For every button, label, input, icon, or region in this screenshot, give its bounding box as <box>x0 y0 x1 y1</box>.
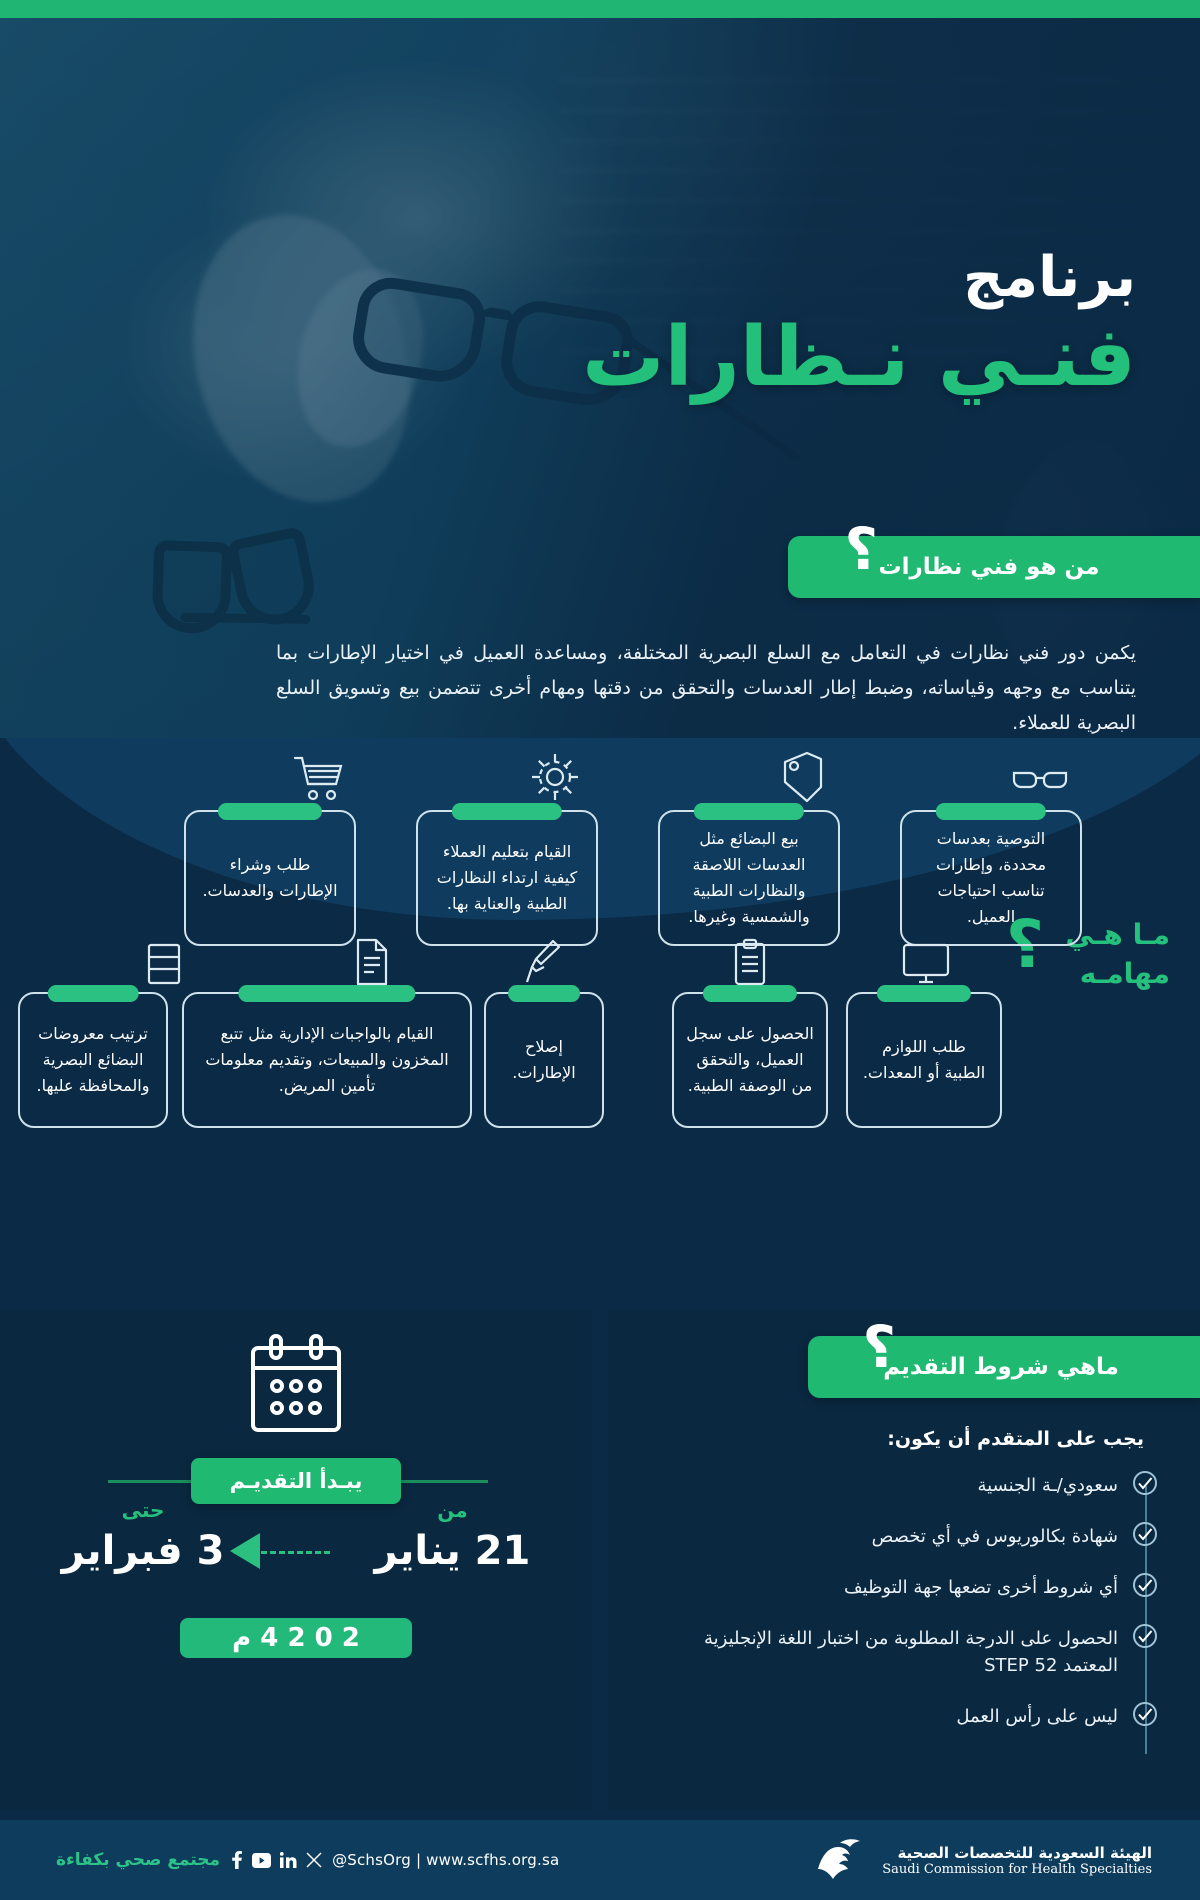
screwdriver-icon <box>525 938 561 986</box>
card-cap <box>877 985 971 1002</box>
conditions-intro: يجب على المتقدم أن يكون: <box>887 1428 1144 1450</box>
x-twitter-icon[interactable] <box>306 1852 322 1868</box>
list-item: الحصول على الدرجة المطلوبة من اختبار الل… <box>648 1623 1158 1679</box>
task-card-text: الحصول على سجل العميل، والتحقق من الوصفة… <box>674 1011 826 1109</box>
task-card: القيام بتعليم العملاء كيفية ارتداء النظا… <box>416 810 598 946</box>
program-name: فنـي نـظارات <box>582 312 1136 404</box>
conditions-badge[interactable]: ؟ ماهي شروط التقديم <box>808 1336 1200 1398</box>
who-is-badge-label: من هو فني نظارات <box>879 554 1110 580</box>
check-circle-icon <box>1132 1623 1158 1649</box>
conditions-list: سعودي/ـة الجنسية شهادة بكالوريوس في أي ت… <box>648 1470 1158 1752</box>
monitor-icon <box>902 942 950 986</box>
linkedin-icon[interactable] <box>280 1852 297 1868</box>
org-name-english: Saudi Commission for Health Specialties <box>882 1862 1152 1877</box>
check-circle-icon <box>1132 1701 1158 1727</box>
task-card: التوصية بعدسات محددة، وإطارات تناسب احتي… <box>900 810 1082 946</box>
card-cap <box>452 803 562 820</box>
task-card: بيع البضائع مثل العدسات اللاصقة والنظارا… <box>658 810 840 946</box>
task-card: طلب اللوازم الطبية أو المعدات. <box>846 992 1002 1128</box>
card-cap <box>936 803 1046 820</box>
task-card-text: ترتيب معروضات البضائع البصرية والمحافظة … <box>20 1011 166 1109</box>
question-mark-icon: ؟ <box>862 1318 896 1376</box>
list-item: أي شروط أخرى تضعها جهة التوظيف <box>648 1572 1158 1601</box>
conditions-panel: ؟ ماهي شروط التقديم يجب على المتقدم أن ي… <box>608 1310 1200 1810</box>
date-from: من 21 يناير <box>374 1528 530 1574</box>
start-apply-label: يبـدأ التقديـم <box>230 1469 363 1493</box>
condition-text: ليس على رأس العمل <box>648 1701 1118 1730</box>
condition-text: أي شروط أخرى تضعها جهة التوظيف <box>648 1572 1118 1601</box>
task-card: طلب وشراء الإطارات والعدسات. <box>184 810 356 946</box>
arrow-icon <box>224 1531 374 1571</box>
footer-slogan: مجتمع صحي بكفاءة <box>56 1850 220 1870</box>
task-card-text: القيام بتعليم العملاء كيفية ارتداء النظا… <box>418 829 596 927</box>
who-is-badge[interactable]: ؟ من هو فني نظارات <box>788 536 1200 598</box>
tasks-section: ؟ مـا هـي مهامـه <box>0 738 1200 1298</box>
task-card-text: التوصية بعدسات محددة، وإطارات تناسب احتي… <box>902 816 1080 940</box>
card-cap <box>48 985 139 1002</box>
condition-text: الحصول على الدرجة المطلوبة من اختبار الل… <box>648 1623 1118 1679</box>
social-icons[interactable] <box>230 1851 322 1869</box>
start-apply-pill: يبـدأ التقديـم <box>191 1458 401 1504</box>
shopping-cart-icon <box>293 754 345 802</box>
task-card-text: بيع البضائع مثل العدسات اللاصقة والنظارا… <box>660 816 838 940</box>
card-cap <box>218 803 322 820</box>
conditions-badge-label: ماهي شروط التقديم <box>883 1354 1125 1380</box>
card-cap <box>508 985 580 1002</box>
top-accent-bar <box>0 0 1200 18</box>
facebook-icon[interactable] <box>230 1851 243 1869</box>
document-icon <box>352 938 390 986</box>
date-to: حتى 3 فبراير <box>62 1528 225 1574</box>
hero-title-group: برنامج فنـي نـظارات <box>582 250 1136 404</box>
list-item: سعودي/ـة الجنسية <box>648 1470 1158 1499</box>
price-tag-icon <box>777 750 827 804</box>
date-to-value: 3 فبراير <box>62 1528 225 1574</box>
year-label: 2 0 2 4 م <box>232 1623 360 1653</box>
infographic-page: برنامج فنـي نـظارات ؟ من هو فني نظارات ي… <box>0 0 1200 1900</box>
footer-logo-group: الهيئة السعودية للتخصصات الصحية Saudi Co… <box>810 1837 1152 1883</box>
date-from-value: 21 يناير <box>374 1528 530 1574</box>
footer-social-group: مجتمع صحي بكفاءة @SchsOrg | www.scfhs.or… <box>56 1850 559 1870</box>
footer: مجتمع صحي بكفاءة @SchsOrg | www.scfhs.or… <box>0 1820 1200 1900</box>
condition-text: شهادة بكالوريوس في أي تخصص <box>648 1521 1118 1550</box>
scfhs-logo-icon <box>810 1837 868 1883</box>
condition-text: سعودي/ـة الجنسية <box>648 1470 1118 1499</box>
task-card-text: إصلاح الإطارات. <box>486 1024 602 1096</box>
task-card-text: القيام بالواجبات الإدارية مثل تتبع المخز… <box>184 1011 470 1109</box>
program-label: برنامج <box>582 250 1136 306</box>
task-card: الحصول على سجل العميل، والتحقق من الوصفة… <box>672 992 828 1128</box>
task-card: إصلاح الإطارات. <box>484 992 604 1128</box>
task-card-text: طلب وشراء الإطارات والعدسات. <box>186 842 354 914</box>
list-item: ليس على رأس العمل <box>648 1701 1158 1730</box>
date-range: من 21 يناير حتى 3 فبراير <box>0 1528 592 1574</box>
check-circle-icon <box>1132 1572 1158 1598</box>
card-cap <box>238 985 415 1002</box>
org-name: الهيئة السعودية للتخصصات الصحية Saudi Co… <box>882 1844 1152 1877</box>
card-cap <box>703 985 797 1002</box>
list-item: شهادة بكالوريوس في أي تخصص <box>648 1521 1158 1550</box>
bottom-section: يبـدأ التقديـم من 21 يناير حتى 3 فبراير … <box>0 1300 1200 1820</box>
calendar-icon <box>247 1332 345 1444</box>
check-circle-icon <box>1132 1521 1158 1547</box>
gear-icon <box>530 752 580 802</box>
year-pill: 2 0 2 4 م <box>180 1618 412 1658</box>
card-cap <box>694 803 804 820</box>
tasks-title-line2: مهامـه <box>970 957 1170 990</box>
task-card-text: طلب اللوازم الطبية أو المعدات. <box>848 1024 1000 1096</box>
task-card: ترتيب معروضات البضائع البصرية والمحافظة … <box>18 992 168 1128</box>
question-mark-icon: ؟ <box>844 520 878 578</box>
shelf-icon <box>146 942 182 986</box>
footer-handle[interactable]: @SchsOrg | www.scfhs.org.sa <box>332 1851 559 1869</box>
clipboard-icon <box>733 938 767 986</box>
apply-panel: يبـدأ التقديـم من 21 يناير حتى 3 فبراير … <box>0 1310 592 1810</box>
check-circle-icon <box>1132 1470 1158 1496</box>
hero-description: يكمن دور فني نظارات في التعامل مع السلع … <box>276 636 1136 738</box>
task-card: القيام بالواجبات الإدارية مثل تتبع المخز… <box>182 992 472 1128</box>
youtube-icon[interactable] <box>252 1853 271 1868</box>
hero-section: برنامج فنـي نـظارات ؟ من هو فني نظارات ي… <box>0 18 1200 738</box>
glasses-icon <box>1012 764 1068 794</box>
org-name-arabic: الهيئة السعودية للتخصصات الصحية <box>882 1844 1152 1862</box>
